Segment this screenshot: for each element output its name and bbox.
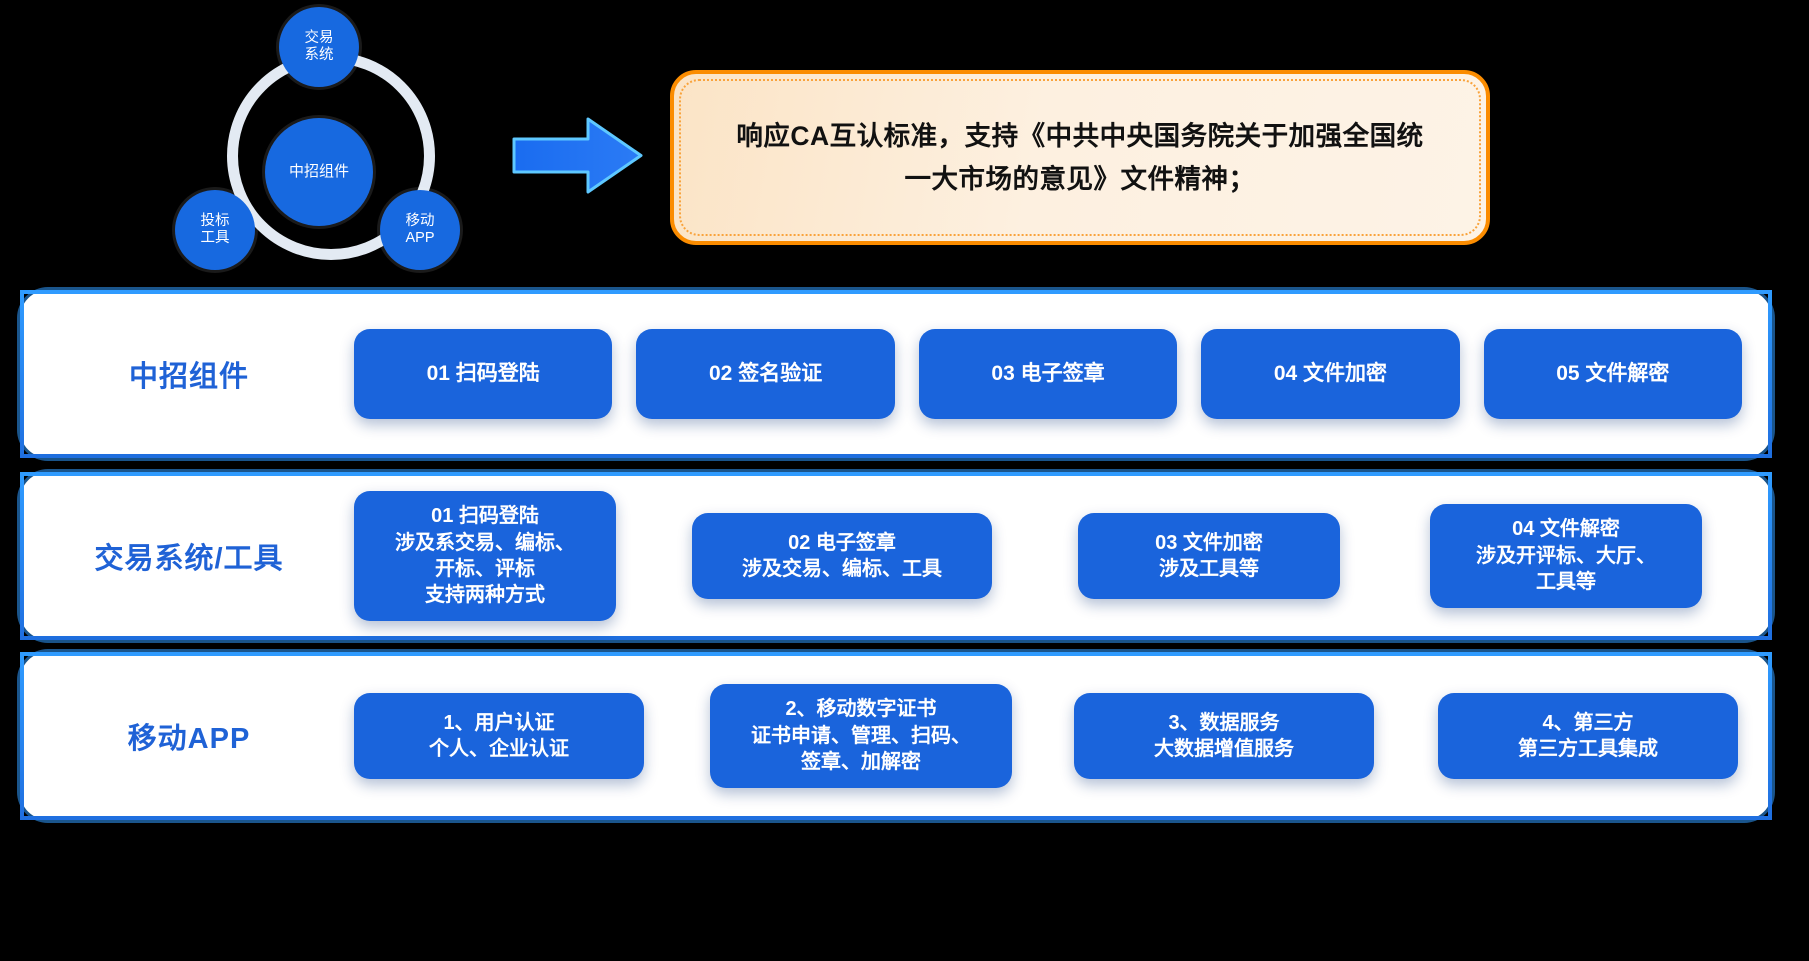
- wheel-node-left-line-2: 工具: [201, 230, 230, 247]
- row-1-cards: 01 扫码登陆 02 签名验证 03 电子签章 04 文件加密 05 文件解密: [354, 329, 1768, 419]
- card-r2-c1-line-1: 01 扫码登陆: [431, 503, 539, 529]
- card-r2-c4-line-3: 工具等: [1536, 569, 1596, 595]
- row-label-2: 交易系统/工具: [24, 535, 354, 577]
- card-r3-c3[interactable]: 3、数据服务 大数据增值服务: [1074, 693, 1374, 779]
- card-r2-c2-line-1: 02 电子签章: [788, 530, 896, 556]
- card-r3-c4-line-2: 第三方工具集成: [1518, 736, 1658, 762]
- callout-line-1: 响应CA互认标准，支持《中共中央国务院关于加强全国统: [736, 115, 1423, 158]
- card-r3-c1-line-1: 1、用户认证: [443, 710, 554, 736]
- wheel-node-right-line-2: APP: [405, 230, 434, 247]
- arrow-right-icon: [510, 113, 645, 198]
- card-r3-c3-line-2: 大数据增值服务: [1154, 736, 1294, 762]
- card-r2-c4-line-2: 涉及开评标、大厅、: [1476, 543, 1656, 569]
- card-r1-c5-line-1: 05 文件解密: [1556, 360, 1669, 388]
- row-trading-system-tools: 交易系统/工具 01 扫码登陆 涉及系交易、编标、 开标、评标 支持两种方式 0…: [20, 472, 1772, 640]
- wheel-node-left-line-1: 投标: [201, 213, 230, 230]
- wheel-node-left[interactable]: 投标 工具: [175, 190, 255, 270]
- card-r3-c2-line-1: 2、移动数字证书: [785, 696, 936, 722]
- wheel-node-right[interactable]: 移动 APP: [380, 190, 460, 270]
- row-zhongzhao-components: 中招组件 01 扫码登陆 02 签名验证 03 电子签章 04 文件加密 05 …: [20, 290, 1772, 458]
- card-r3-c1-line-2: 个人、企业认证: [429, 736, 569, 762]
- card-r2-c3[interactable]: 03 文件加密 涉及工具等: [1078, 513, 1340, 599]
- card-r3-c1[interactable]: 1、用户认证 个人、企业认证: [354, 693, 644, 779]
- callout-line-2: 一大市场的意见》文件精神；: [736, 158, 1423, 201]
- card-r3-c2-line-3: 签章、加解密: [801, 749, 921, 775]
- card-r2-c4[interactable]: 04 文件解密 涉及开评标、大厅、 工具等: [1430, 504, 1702, 607]
- callout-text: 响应CA互认标准，支持《中共中央国务院关于加强全国统 一大市场的意见》文件精神；: [736, 115, 1423, 201]
- card-r1-c2-line-1: 02 签名验证: [709, 360, 822, 388]
- card-r2-c2[interactable]: 02 电子签章 涉及交易、编标、工具: [692, 513, 992, 599]
- row-label-1: 中招组件: [24, 353, 354, 395]
- callout-box: 响应CA互认标准，支持《中共中央国务院关于加强全国统 一大市场的意见》文件精神；: [670, 70, 1490, 245]
- card-r3-c2-line-2: 证书申请、管理、扫码、: [751, 723, 971, 749]
- card-r2-c1-line-2: 涉及系交易、编标、: [395, 530, 575, 556]
- card-r1-c3-line-1: 03 电子签章: [991, 360, 1104, 388]
- card-r3-c3-line-1: 3、数据服务: [1168, 710, 1279, 736]
- card-r3-c4-line-1: 4、第三方: [1542, 710, 1633, 736]
- card-r1-c1[interactable]: 01 扫码登陆: [354, 329, 612, 419]
- card-r1-c5[interactable]: 05 文件解密: [1484, 329, 1742, 419]
- card-r2-c2-line-2: 涉及交易、编标、工具: [742, 556, 942, 582]
- card-r2-c3-line-1: 03 文件加密: [1155, 530, 1263, 556]
- card-r1-c2[interactable]: 02 签名验证: [636, 329, 894, 419]
- diagram-canvas: 中招组件 交易 系统 投标 工具 移动 APP: [0, 0, 1809, 961]
- card-r3-c2[interactable]: 2、移动数字证书 证书申请、管理、扫码、 签章、加解密: [710, 684, 1012, 787]
- card-r1-c4-line-1: 04 文件加密: [1274, 360, 1387, 388]
- row-2-cards: 01 扫码登陆 涉及系交易、编标、 开标、评标 支持两种方式 02 电子签章 涉…: [354, 491, 1768, 621]
- wheel-node-top[interactable]: 交易 系统: [279, 7, 359, 87]
- card-r2-c3-line-2: 涉及工具等: [1159, 556, 1259, 582]
- card-r2-c1-line-3: 开标、评标: [435, 556, 535, 582]
- wheel-node-right-line-1: 移动: [406, 213, 435, 230]
- row-3-cards: 1、用户认证 个人、企业认证 2、移动数字证书 证书申请、管理、扫码、 签章、加…: [354, 684, 1768, 787]
- card-r2-c1-line-4: 支持两种方式: [425, 582, 545, 608]
- card-r2-c4-line-1: 04 文件解密: [1512, 516, 1620, 542]
- row-mobile-app: 移动APP 1、用户认证 个人、企业认证 2、移动数字证书 证书申请、管理、扫码…: [20, 652, 1772, 820]
- wheel-node-center[interactable]: 中招组件: [265, 118, 373, 226]
- row-label-3: 移动APP: [24, 715, 354, 757]
- card-r3-c4[interactable]: 4、第三方 第三方工具集成: [1438, 693, 1738, 779]
- wheel-node-top-line-2: 系统: [305, 47, 334, 64]
- card-r1-c4[interactable]: 04 文件加密: [1201, 329, 1459, 419]
- card-r1-c1-line-1: 01 扫码登陆: [427, 360, 540, 388]
- wheel-diagram: 中招组件 交易 系统 投标 工具 移动 APP: [205, 10, 475, 280]
- wheel-node-top-line-1: 交易: [305, 30, 334, 47]
- wheel-node-center-label: 中招组件: [289, 163, 349, 181]
- card-r1-c3[interactable]: 03 电子签章: [919, 329, 1177, 419]
- card-r2-c1[interactable]: 01 扫码登陆 涉及系交易、编标、 开标、评标 支持两种方式: [354, 491, 616, 621]
